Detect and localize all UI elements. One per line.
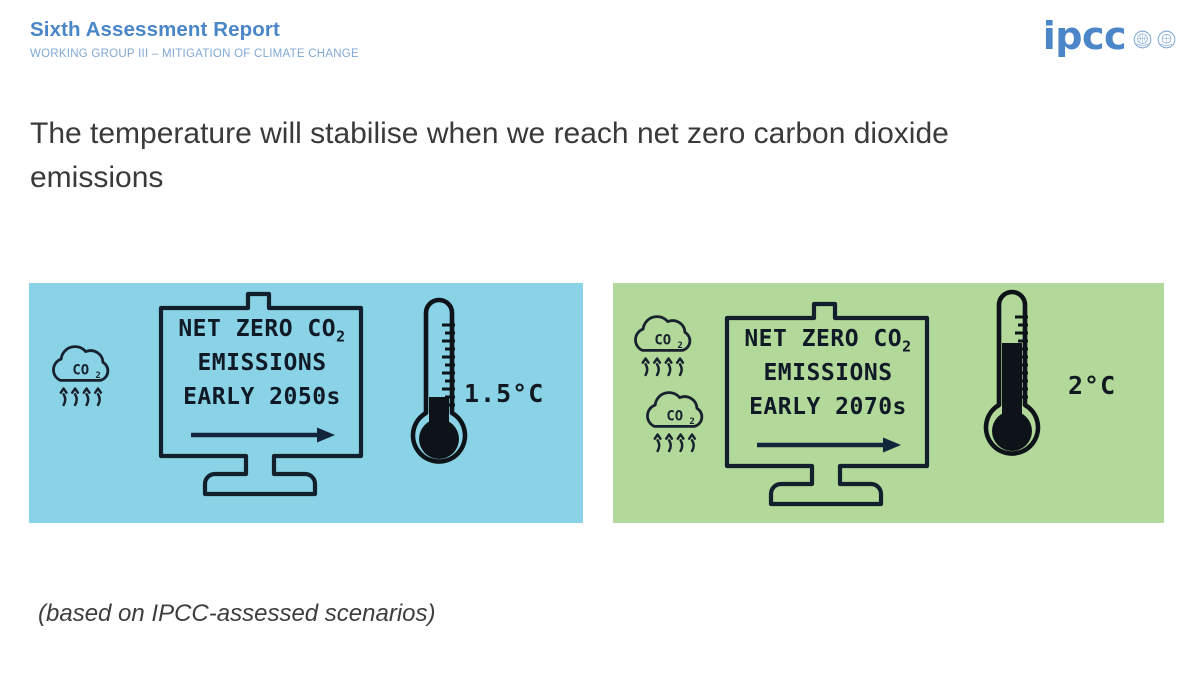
scenario-panel-2c: CO 2 CO 2 <box>613 283 1164 523</box>
svg-text:2: 2 <box>95 371 100 381</box>
screen-line-3: EARLY 2070s <box>713 394 943 420</box>
working-group-subtitle: WORKING GROUP III – MITIGATION OF CLIMAT… <box>30 48 359 60</box>
source-caption: (based on IPCC-assessed scenarios) <box>38 600 436 628</box>
svg-text:CO: CO <box>666 409 683 425</box>
co2-cloud-icon: CO 2 <box>633 387 715 474</box>
svg-text:CO: CO <box>654 333 671 349</box>
thermometer-icon <box>968 283 1058 483</box>
co2-cloud-icon: CO 2 <box>621 311 703 398</box>
right-arrow-icon <box>189 425 339 445</box>
screen-line-1: NET ZERO CO2 <box>713 326 943 356</box>
screen-line-3: EARLY 2050s <box>147 384 377 410</box>
svg-text:2: 2 <box>677 341 682 351</box>
ipcc-logo: ipcc <box>1043 18 1176 54</box>
co2-cloud-icon: CO 2 <box>39 341 121 428</box>
scenario-panel-1-5c: CO 2 NET ZERO CO2 EMISSIONS EARLY 2050s <box>29 283 583 523</box>
page-header: Sixth Assessment Report WORKING GROUP II… <box>0 0 1200 78</box>
screen-line-1-subscript: 2 <box>336 328 346 346</box>
ipcc-wordmark: ipcc <box>1043 18 1126 54</box>
screen-line-1-subscript: 2 <box>902 338 912 356</box>
temperature-label: 1.5°C <box>464 379 544 408</box>
wmo-emblem-icon <box>1157 30 1176 54</box>
svg-text:2: 2 <box>689 417 694 427</box>
report-title: Sixth Assessment Report <box>30 18 280 42</box>
right-arrow-icon <box>755 435 905 455</box>
temperature-label: 2°C <box>1068 371 1116 400</box>
screen-line-1-main: NET ZERO CO <box>744 326 902 352</box>
screen-line-2: EMISSIONS <box>147 350 377 376</box>
organisation-emblems <box>1133 18 1176 54</box>
un-emblem-icon <box>1133 30 1152 54</box>
slide-headline: The temperature will stabilise when we r… <box>30 112 1030 200</box>
monitor-sign: NET ZERO CO2 EMISSIONS EARLY 2070s <box>713 298 943 518</box>
screen-line-1-main: NET ZERO CO <box>178 316 336 342</box>
monitor-sign: NET ZERO CO2 EMISSIONS EARLY 2050s <box>147 288 377 508</box>
screen-line-2: EMISSIONS <box>713 360 943 386</box>
svg-text:CO: CO <box>72 363 89 379</box>
screen-line-1: NET ZERO CO2 <box>147 316 377 346</box>
